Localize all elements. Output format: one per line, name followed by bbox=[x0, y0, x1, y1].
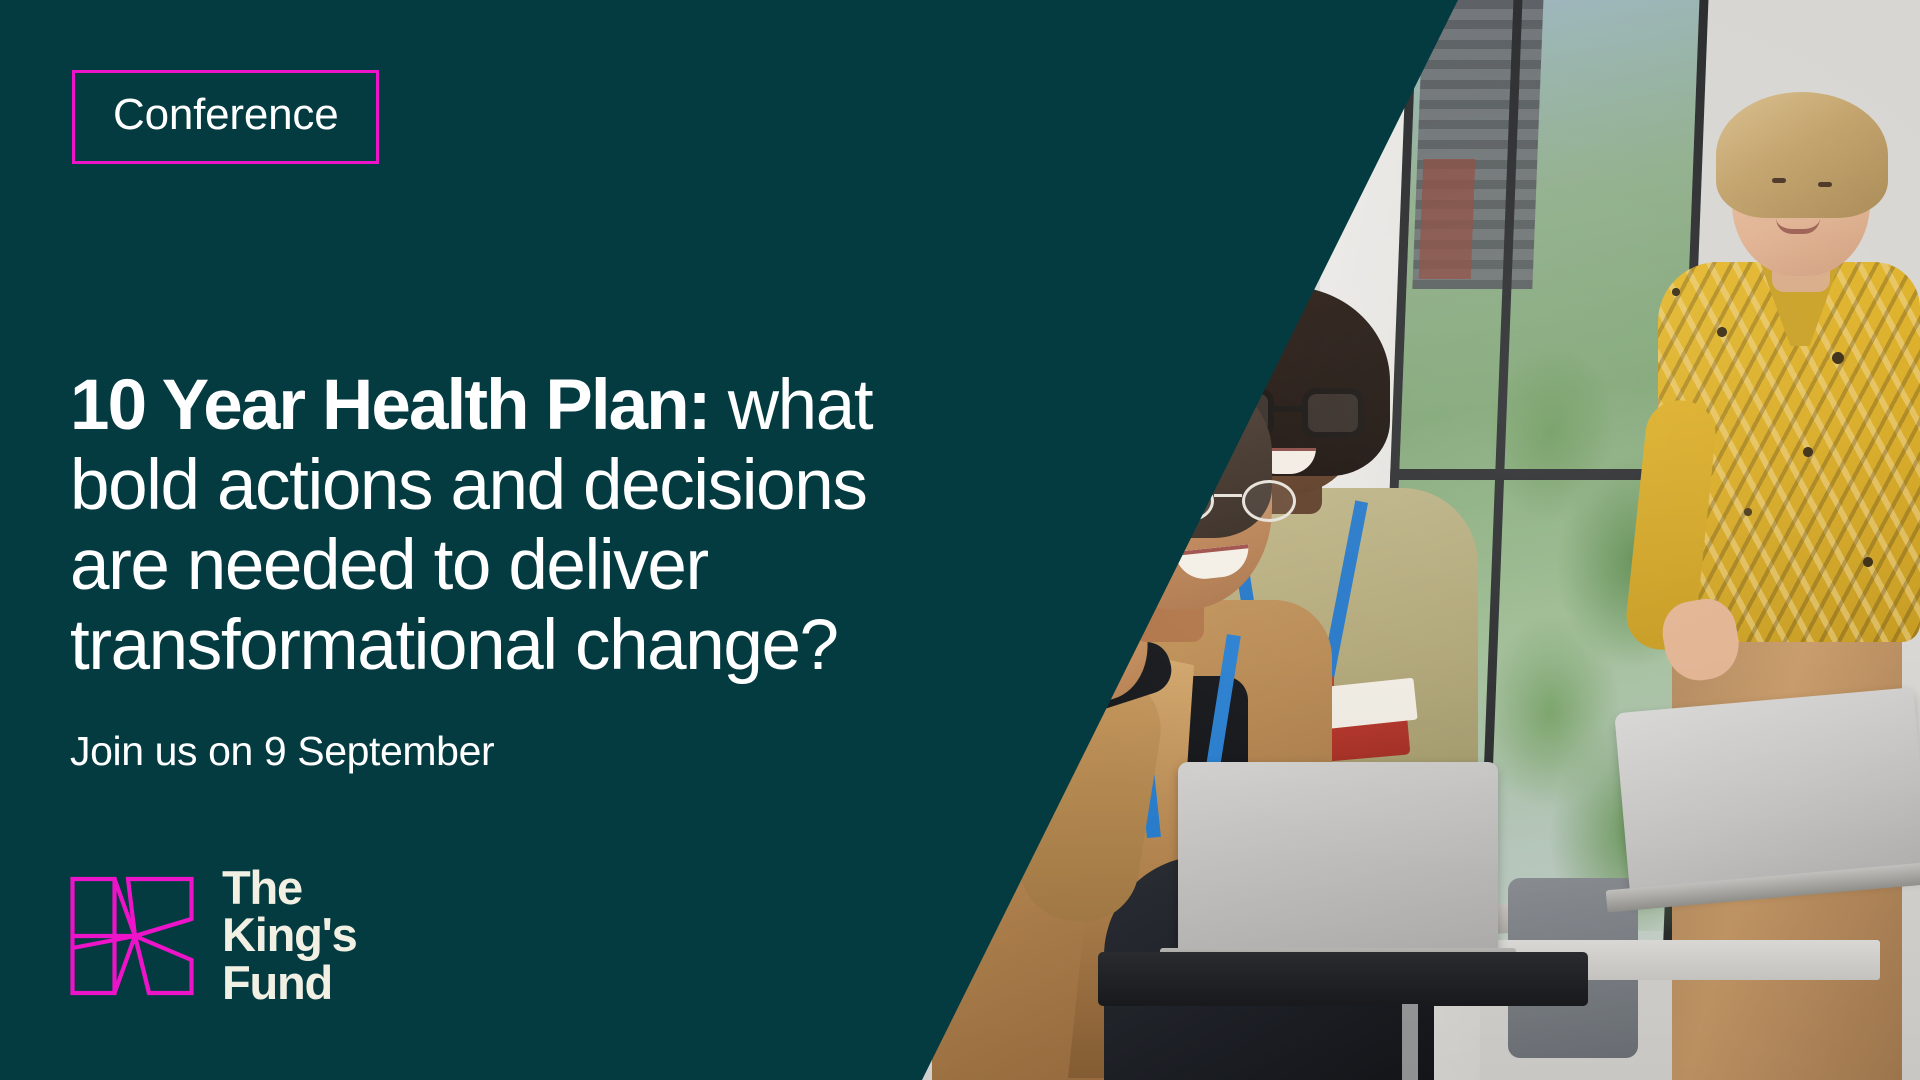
eye-right bbox=[1818, 182, 1832, 187]
logo-line-2: King's bbox=[222, 911, 357, 958]
event-type-label: Conference bbox=[113, 93, 338, 137]
eye-left bbox=[1772, 178, 1786, 183]
headline-lead: 10 Year Health Plan: bbox=[70, 366, 709, 445]
glasses-bridge bbox=[1214, 494, 1242, 497]
event-type-badge: Conference bbox=[72, 70, 379, 164]
kings-fund-logo: The King's Fund bbox=[68, 862, 357, 1010]
laptop-front bbox=[1178, 762, 1498, 960]
conference-promo-banner: Conference 10 Year Health Plan: what bol… bbox=[0, 0, 1920, 1080]
logo-line-1: The bbox=[222, 864, 357, 911]
logo-line-3: Fund bbox=[222, 959, 357, 1006]
outside-brick-building bbox=[1419, 159, 1476, 279]
kings-fund-wordmark: The King's Fund bbox=[222, 862, 357, 1006]
desk-front-leg bbox=[1402, 1004, 1418, 1080]
kings-fund-k-monogram-icon bbox=[68, 862, 196, 1010]
hair bbox=[1716, 92, 1888, 218]
banner-content: Conference 10 Year Health Plan: what bol… bbox=[0, 0, 1000, 1080]
glasses-bridge bbox=[1274, 406, 1304, 412]
desk-front bbox=[1098, 952, 1588, 1006]
page-title: 10 Year Health Plan: what bold actions a… bbox=[70, 366, 930, 687]
event-date-text: Join us on 9 September bbox=[70, 727, 494, 776]
lens-right bbox=[1302, 388, 1364, 438]
lens-right bbox=[1242, 480, 1296, 522]
